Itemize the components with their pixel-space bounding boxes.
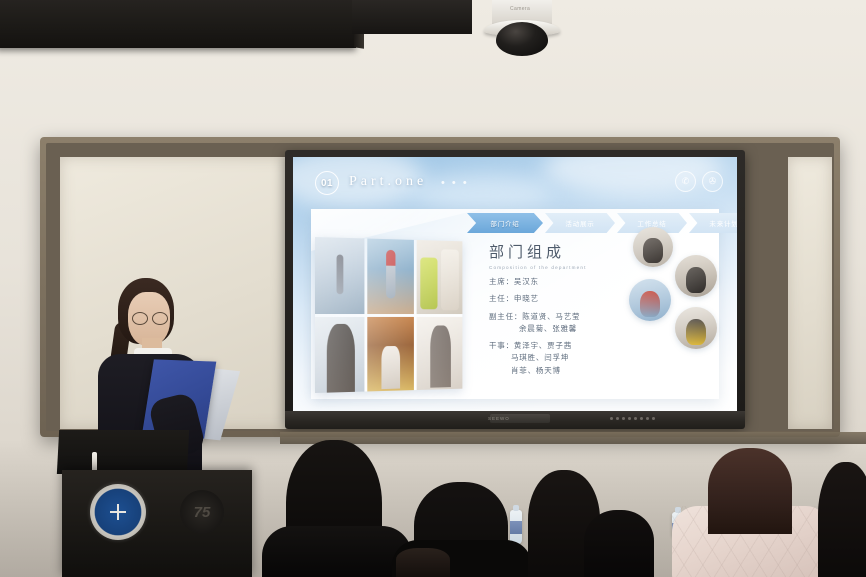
section-title: Part.one <box>349 174 427 190</box>
podium-top-surface <box>57 430 189 474</box>
org-logo-left-icon: ✆ <box>675 171 696 192</box>
lectern: 75 <box>62 470 252 577</box>
roster-line-deputy-cont: 余晨菊、张雅馨 <box>489 323 639 334</box>
roster-role-director: 主任： <box>489 294 514 303</box>
slide-nav: 部门介绍 活动展示 工作总结 未来计划 <box>467 213 737 233</box>
display-button-strip[interactable] <box>610 417 655 420</box>
camera-brand-label: Camera <box>510 6 530 12</box>
university-seal-icon <box>90 484 146 540</box>
header-dots: • • • <box>441 177 469 189</box>
member-portrait-2 <box>675 255 717 297</box>
acoustic-panel-secondary <box>352 0 472 34</box>
member-portrait-4 <box>675 307 717 349</box>
camera-dome-lens <box>496 22 548 56</box>
org-logo-right-icon: ✇ <box>702 171 723 192</box>
audience-member-7 <box>396 548 450 577</box>
collage-photo-1 <box>315 237 364 314</box>
roster-names-director: 申晓艺 <box>514 294 539 303</box>
acoustic-panel <box>0 0 356 48</box>
audience-member-4 <box>584 510 654 577</box>
member-portrait-3 <box>629 279 671 321</box>
photo-collage <box>315 237 462 393</box>
slide-logos: ✆ ✇ <box>675 171 723 192</box>
nav-item-2[interactable]: 活动展示 <box>545 213 615 233</box>
department-roster-block: 部门组成 Composition of the department 主席：吴汉… <box>489 241 639 376</box>
display-bottom-bezel: SEEWO <box>285 411 745 429</box>
display-brand-label: SEEWO <box>488 416 510 421</box>
roster-line-staff: 干事：黄泽宇、贾子茜 <box>489 340 639 351</box>
roster-role-deputy: 副主任： <box>489 312 522 321</box>
collage-photo-5 <box>367 316 414 391</box>
slide-header: 01 Part.one • • • ✆ ✇ <box>293 157 737 203</box>
slide-title: 部门组成 <box>489 241 639 262</box>
roster-line-staff-cont-1: 马琪胜、闫孚坤 <box>489 352 639 363</box>
member-portrait-1 <box>633 227 673 267</box>
water-bottle-1 <box>510 510 522 544</box>
roster-line-director: 主任：申晓艺 <box>489 293 639 304</box>
dome-security-camera: Camera <box>484 0 560 54</box>
front-desk-edge <box>280 432 866 444</box>
anniversary-logo: 75 <box>180 490 224 534</box>
roster-names-deputy: 陈道贤、马艺莹 <box>522 312 580 321</box>
classroom-presentation-scene: Camera 01 Part.one • • • ✆ ✇ <box>0 0 866 577</box>
microphone-body <box>92 452 97 472</box>
audience-member-5 <box>708 448 792 534</box>
collage-photo-4 <box>315 316 364 393</box>
collage-photo-6 <box>417 316 462 390</box>
roster-names-staff: 黄泽宇、贾子茜 <box>514 341 572 350</box>
presentation-slide: 01 Part.one • • • ✆ ✇ 部门介绍 活动展示 工作总结 未来计… <box>293 157 737 411</box>
eyeglasses-icon <box>132 312 168 323</box>
collage-photo-3 <box>417 240 462 314</box>
roster-role-chair: 主席： <box>489 277 514 286</box>
whiteboard-right-panel <box>788 157 832 429</box>
audience-member-6 <box>818 462 866 577</box>
nav-item-4[interactable]: 未来计划 <box>689 213 737 233</box>
roster-line-chair: 主席：吴汉东 <box>489 276 639 287</box>
nav-item-1[interactable]: 部门介绍 <box>467 213 543 233</box>
roster-line-staff-cont-2: 肖菲、杨天博 <box>489 365 639 376</box>
collage-photo-2 <box>367 239 414 314</box>
slide-subtitle: Composition of the department <box>489 265 639 270</box>
seal-emblem <box>110 504 126 520</box>
roster-role-staff: 干事： <box>489 341 514 350</box>
interactive-display-screen[interactable]: 01 Part.one • • • ✆ ✇ 部门介绍 活动展示 工作总结 未来计… <box>293 157 737 411</box>
roster-line-deputy: 副主任：陈道贤、马艺莹 <box>489 311 639 322</box>
section-number-badge: 01 <box>315 171 339 195</box>
roster-names-chair: 吴汉东 <box>514 277 539 286</box>
audience-member-1 <box>286 440 382 577</box>
